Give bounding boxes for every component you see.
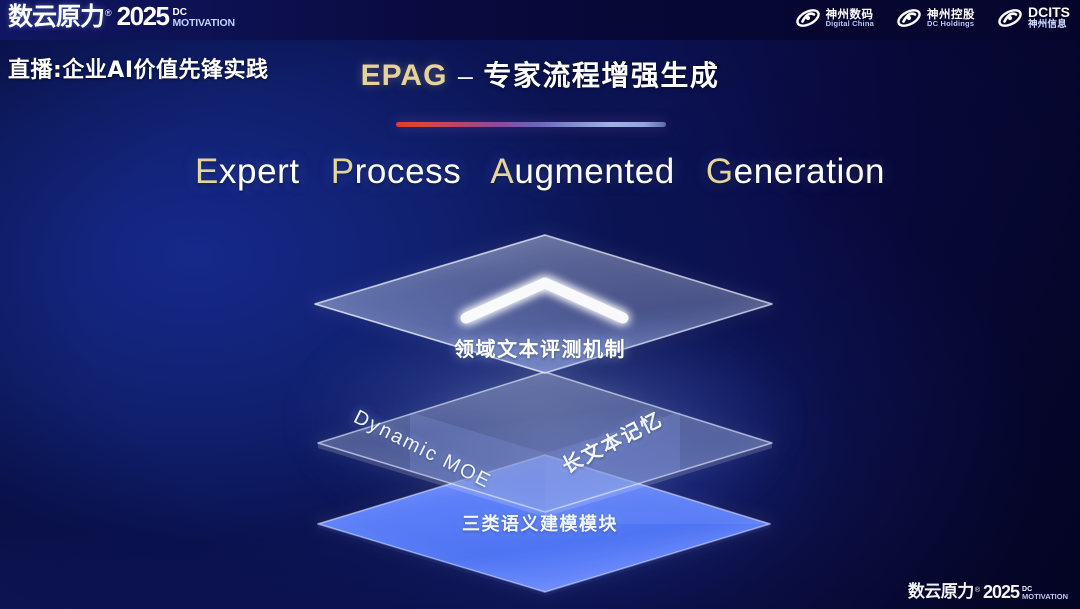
layer-label-dynamic-moe: Dynamic MOE xyxy=(350,406,495,494)
heading-space-3 xyxy=(685,152,695,191)
live-broadcast-label: 直播:企业AI价值先锋实践 xyxy=(8,52,269,84)
partner-name-en: DC Holdings xyxy=(927,20,975,28)
watermark-name-cn: 数云原力 xyxy=(908,584,974,601)
title-acronym: EPAG xyxy=(361,59,448,92)
watermark-registered-mark: ® xyxy=(975,587,980,594)
brand-dc-line1: DC xyxy=(173,8,235,18)
partner-logo-digital-china: 神州数码 Digital China xyxy=(795,5,874,31)
watermark-dc-line2: MOTIVATION xyxy=(1022,593,1068,601)
brand-logo: 数云原力 ® 2025 DC MOTIVATION xyxy=(8,3,235,29)
heading-word-expert: Expert xyxy=(195,152,300,191)
swirl-icon xyxy=(997,5,1023,31)
brand-dc-line2: MOTIVATION xyxy=(173,18,235,29)
brand-registered-mark: ® xyxy=(105,9,112,18)
heading-space-1 xyxy=(310,152,320,191)
slide-stage: 领域文本评测机制 Dynamic MOE 长文本记忆 三类语义建模模块 数云原力… xyxy=(0,0,1080,609)
watermark-logo: 数云原力 ® 2025 DC MOTIVATION xyxy=(908,583,1068,601)
heading-cap-g: G xyxy=(706,152,734,191)
brand-name-cn: 数云原力 xyxy=(8,4,104,29)
partner-logo-group: 神州数码 Digital China 神州控股 DC Holdings xyxy=(795,5,1070,31)
swirl-icon xyxy=(896,5,922,31)
heading-rest-generation: eneration xyxy=(734,152,885,191)
heading-cap-a: A xyxy=(490,152,514,191)
title-dash: – xyxy=(452,61,479,91)
heading-space-2 xyxy=(472,152,482,191)
gradient-divider xyxy=(396,122,666,127)
swirl-icon xyxy=(795,5,821,31)
heading-cap-e: E xyxy=(195,152,219,191)
chevron-up-icon xyxy=(466,283,623,318)
layer-label-top: 领域文本评测机制 xyxy=(0,333,1080,362)
brand-year: 2025 xyxy=(117,3,169,29)
partner-name-en: Digital China xyxy=(826,20,874,28)
title-subtitle-cn: 专家流程增强生成 xyxy=(483,59,719,92)
heading-cap-p: P xyxy=(331,152,355,191)
heading-word-process: Process xyxy=(331,152,462,191)
heading-word-augmented: Augmented xyxy=(490,152,674,191)
layer-label-bottom: 三类语义建模模块 xyxy=(0,510,1080,536)
heading-rest-process: rocess xyxy=(355,152,462,191)
layer-label-long-text-memory: 长文本记忆 xyxy=(556,403,667,479)
partner-logo-dc-holdings: 神州控股 DC Holdings xyxy=(896,5,975,31)
main-heading: Expert Process Augmented Generation xyxy=(0,152,1080,192)
heading-rest-augmented: ugmented xyxy=(514,152,674,191)
partner-logo-dcits: DCITS 神州信息 xyxy=(997,5,1070,31)
watermark-year: 2025 xyxy=(983,583,1019,601)
heading-rest-expert: xpert xyxy=(219,152,300,191)
heading-word-generation: Generation xyxy=(706,152,885,191)
partner-name-en: 神州信息 xyxy=(1028,20,1070,30)
